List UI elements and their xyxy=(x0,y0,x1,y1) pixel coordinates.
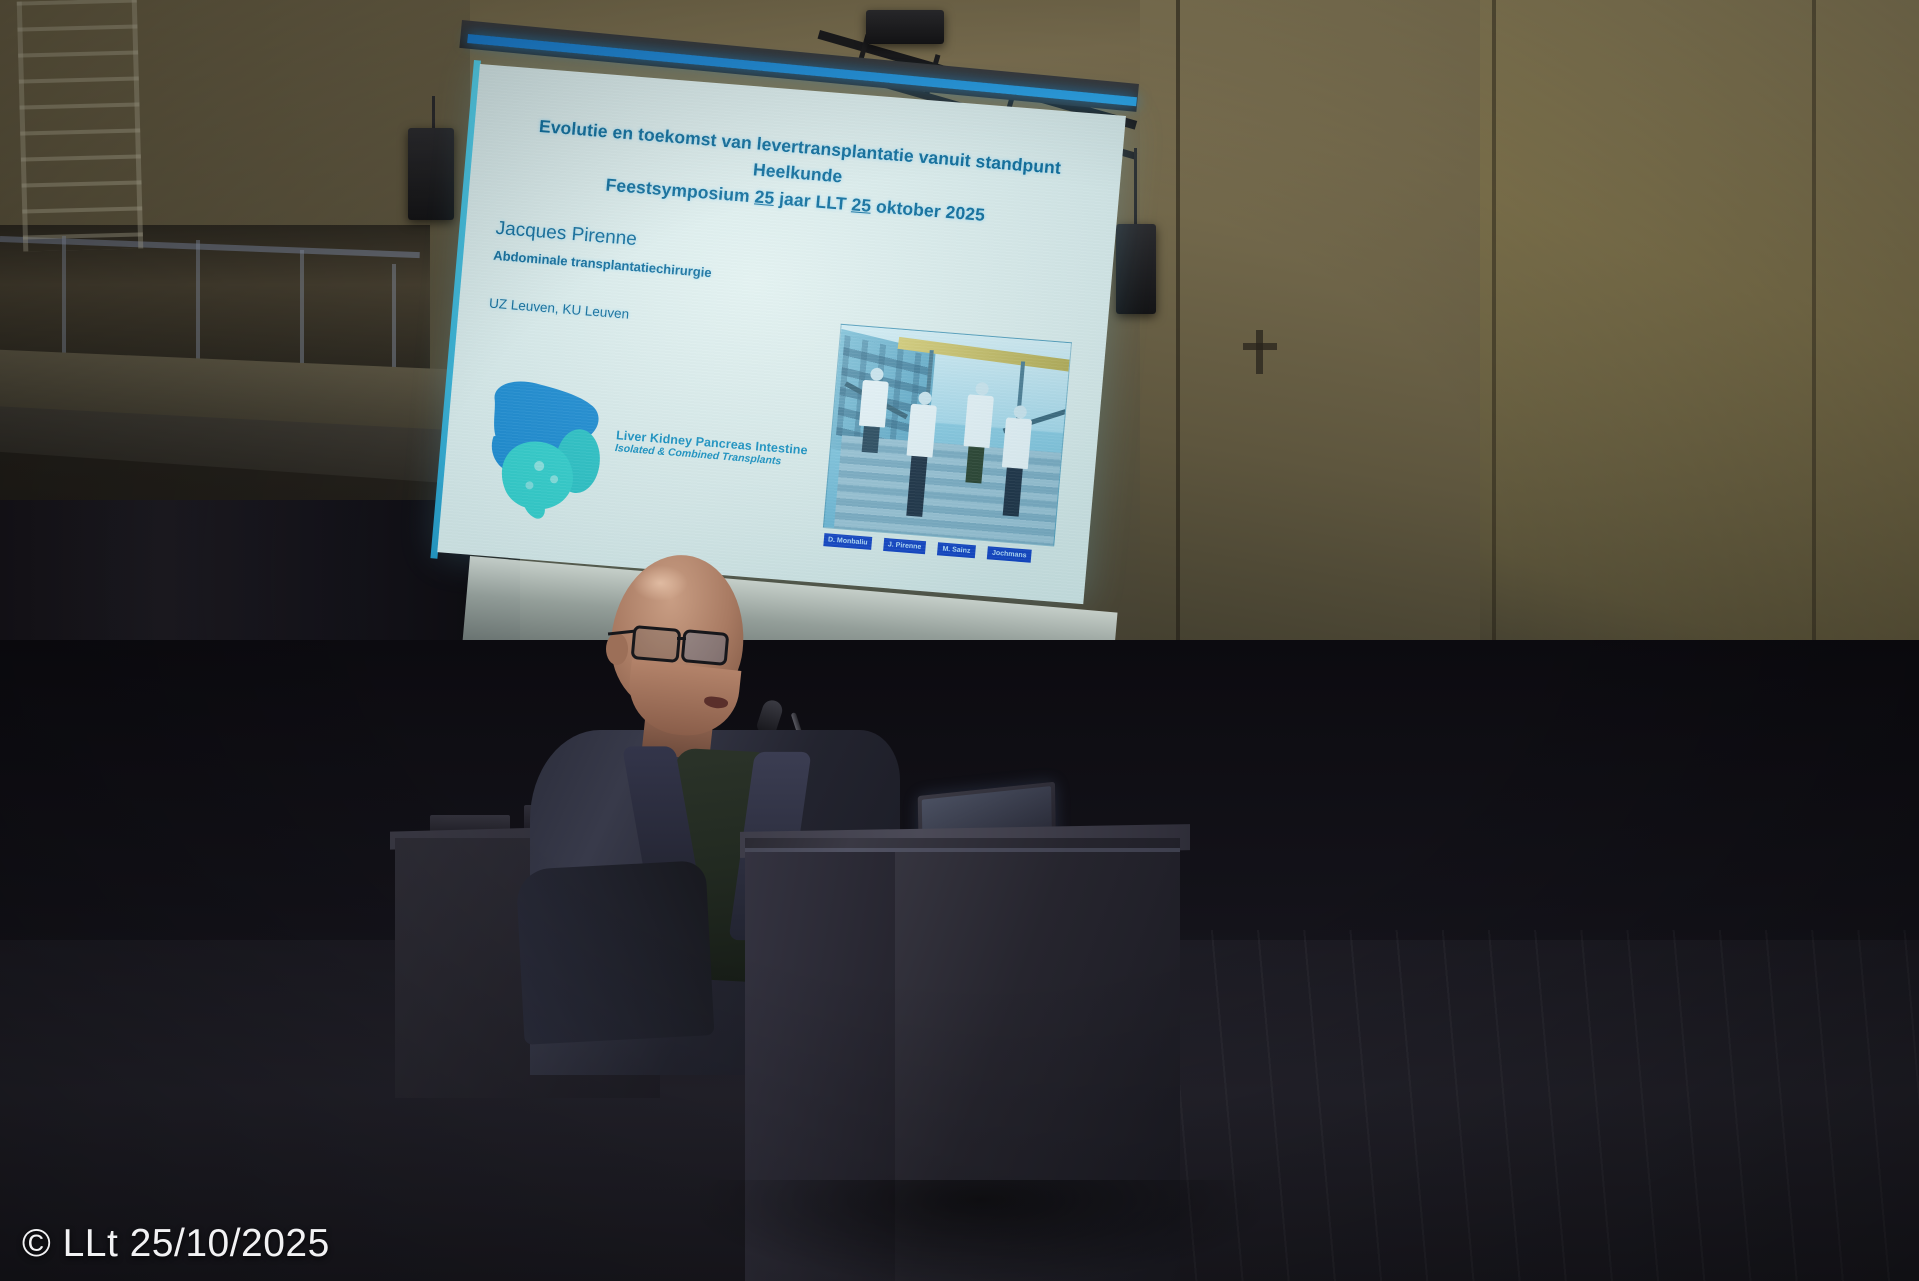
slide-title: Evolutie en toekomst van levertransplant… xyxy=(515,112,1080,235)
wall-ladder xyxy=(17,0,144,252)
symposium-years: 25 xyxy=(754,186,775,208)
photo-person-coat xyxy=(907,404,937,458)
railing-post xyxy=(300,250,304,380)
slide-speaker-name: Jacques Pirenne xyxy=(495,218,638,251)
railing-post xyxy=(196,240,200,375)
auditorium-scene: Evolutie en toekomst van levertransplant… xyxy=(0,0,1919,1281)
railing-post xyxy=(62,236,66,366)
wall-seam xyxy=(1812,0,1816,720)
photo-person-legs xyxy=(862,426,880,453)
photo-person-head xyxy=(975,382,989,396)
photo-person-coat xyxy=(964,394,994,448)
presenter-left-arm xyxy=(516,860,715,1045)
logo-caption: Liver Kidney Pancreas Intestine Isolated… xyxy=(615,428,847,472)
podium-floor-shadow xyxy=(700,1180,1260,1281)
presenter-ear xyxy=(606,633,628,665)
speaker-hanger xyxy=(432,96,435,130)
wall-cross-icon xyxy=(1243,330,1277,374)
slide-team-photo xyxy=(823,324,1072,547)
symposium-day: 25 xyxy=(851,194,872,216)
photo-person-legs xyxy=(906,456,927,517)
pa-speaker xyxy=(408,128,454,220)
photo-person-head xyxy=(1013,405,1027,419)
projection-screen: Evolutie en toekomst van levertransplant… xyxy=(458,8,1148,648)
wall-seam xyxy=(1176,0,1180,700)
photo-person-legs xyxy=(1003,468,1023,517)
floor-plank-lines xyxy=(1150,930,1919,1281)
glasses-lens-icon xyxy=(681,629,730,666)
photo-caption: M. Sainz xyxy=(937,542,976,558)
photo-person-coat xyxy=(859,380,889,428)
symposium-date: oktober 2025 xyxy=(870,195,986,224)
wall-seam xyxy=(1492,0,1496,720)
glasses-bridge-icon xyxy=(677,637,686,640)
presenter-head-highlight xyxy=(632,565,688,601)
photo-caption: J. Pirenne xyxy=(883,538,926,554)
photo-person-head xyxy=(869,367,883,381)
presentation-slide: Evolutie en toekomst van levertransplant… xyxy=(437,64,1126,604)
symposium-label: Feestsymposium xyxy=(605,174,756,206)
wall-panel-far-right xyxy=(1480,0,1919,720)
photo-caption: Jochmans xyxy=(987,546,1032,562)
glasses-lens-icon xyxy=(631,625,682,663)
photo-caption: D. Monbaliu xyxy=(823,533,872,550)
slide-speaker-role: Abdominale transplantatiechirurgie xyxy=(493,248,712,280)
slide-speaker-affiliation: UZ Leuven, KU Leuven xyxy=(489,296,630,322)
photo-person-coat xyxy=(1002,417,1032,469)
photo-person-legs xyxy=(965,446,984,483)
podium-edge-highlight xyxy=(745,848,1180,852)
copyright-watermark: © LLt 25/10/2025 xyxy=(22,1222,330,1266)
photo-person-head xyxy=(918,391,932,405)
symposium-mid: jaar LLT xyxy=(773,188,852,214)
organ-transplant-logo-icon xyxy=(477,366,620,526)
